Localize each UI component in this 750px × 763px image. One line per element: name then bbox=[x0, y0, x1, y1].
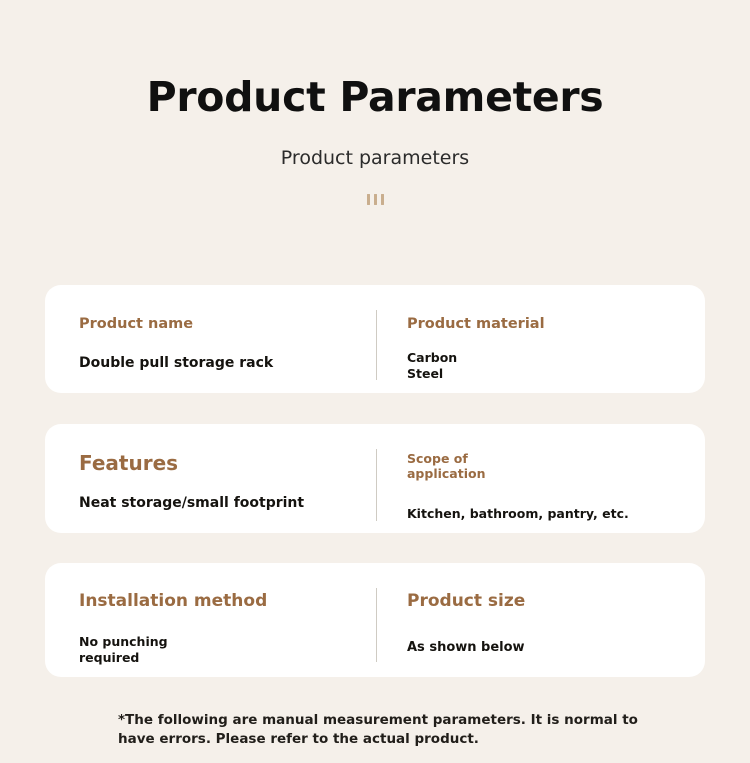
field-value: Carbon Steel bbox=[407, 333, 705, 382]
field-label: Product material bbox=[407, 285, 705, 333]
field-value: Kitchen, bathroom, pantry, etc. bbox=[407, 481, 705, 522]
field-label: Product size bbox=[407, 563, 705, 612]
parameter-field-product-size: Product size As shown below bbox=[376, 563, 705, 656]
parameter-field-features: Features Neat storage/small footprint bbox=[45, 424, 376, 512]
page-header: Product Parameters Product parameters bbox=[0, 0, 750, 205]
parameter-field-product-material: Product material Carbon Steel bbox=[376, 285, 705, 382]
parameter-card: Product name Double pull storage rack Pr… bbox=[45, 285, 705, 393]
field-value: Double pull storage rack bbox=[79, 333, 376, 372]
parameter-card-list: Product name Double pull storage rack Pr… bbox=[45, 285, 705, 677]
product-parameters-page: Product Parameters Product parameters Pr… bbox=[0, 0, 750, 763]
ornament-bar-icon bbox=[367, 194, 370, 205]
ornament-divider-icon bbox=[0, 170, 750, 205]
measurement-disclaimer: *The following are manual measurement pa… bbox=[118, 711, 642, 749]
parameter-field-product-name: Product name Double pull storage rack bbox=[45, 285, 376, 372]
parameter-card: Installation method No punching required… bbox=[45, 563, 705, 677]
field-label: Features bbox=[79, 424, 376, 475]
page-subtitle: Product parameters bbox=[0, 122, 750, 170]
field-value: No punching required bbox=[79, 612, 376, 666]
field-label: Product name bbox=[79, 285, 376, 333]
field-value: Neat storage/small footprint bbox=[79, 475, 376, 512]
page-title: Product Parameters bbox=[0, 0, 750, 122]
ornament-bar-icon bbox=[381, 194, 384, 205]
parameter-card: Features Neat storage/small footprint Sc… bbox=[45, 424, 705, 533]
parameter-field-scope-of-application: Scope of application Kitchen, bathroom, … bbox=[376, 424, 705, 522]
field-label: Installation method bbox=[79, 563, 376, 612]
parameter-field-installation-method: Installation method No punching required bbox=[45, 563, 376, 666]
ornament-bar-icon bbox=[374, 194, 377, 205]
field-value: As shown below bbox=[407, 612, 705, 656]
field-label: Scope of application bbox=[407, 424, 705, 481]
